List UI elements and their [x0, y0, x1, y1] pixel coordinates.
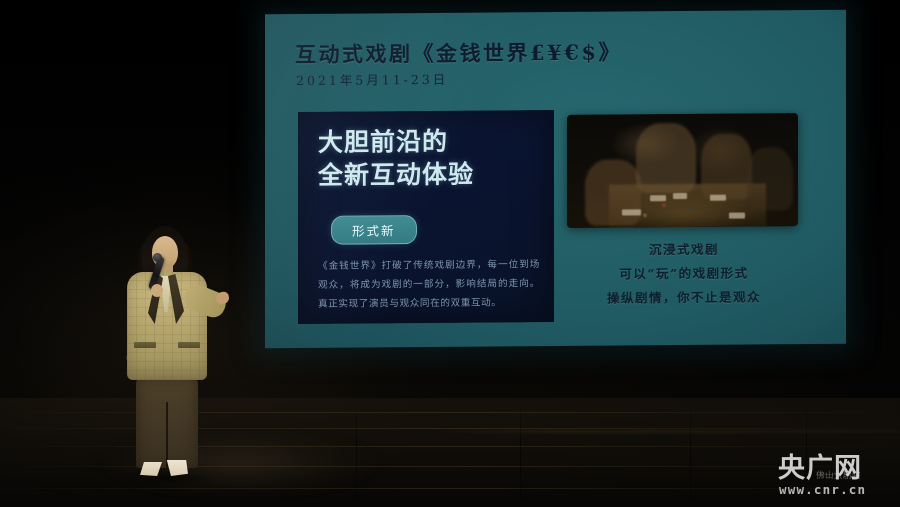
presenter-hand-right [151, 284, 163, 297]
projection-screen: 互动式戏剧《金钱世界£¥€$》 2021年5月11-23日 大胆前沿的 全新互动… [265, 10, 846, 349]
slide-right-line3: 操纵剧情，你不止是观众 [555, 286, 813, 307]
stage-photo: 互动式戏剧《金钱世界£¥€$》 2021年5月11-23日 大胆前沿的 全新互动… [0, 0, 900, 507]
watermark-url: www.cnr.cn [779, 484, 866, 497]
presenter-pocket-left [134, 342, 156, 348]
slide-headline: 大胆前沿的 全新互动体验 [318, 124, 538, 192]
slide-right-line1: 沉浸式戏剧 [555, 238, 813, 259]
slide-headline-line1: 大胆前沿的 [318, 124, 538, 159]
slide-headline-line2: 全新互动体验 [318, 157, 538, 192]
slide-title: 互动式戏剧《金钱世界£¥€$》 [295, 36, 622, 69]
floor-edge-highlight [430, 430, 900, 433]
slide-date: 2021年5月11-23日 [296, 69, 448, 89]
presenter-leg-split [166, 402, 168, 468]
photo-scene [567, 113, 798, 228]
presenter [108, 226, 228, 488]
slide-right-line2: 可以“玩”的戏剧形式 [555, 262, 813, 283]
slide-photo [567, 113, 798, 228]
presenter-pocket-right [178, 342, 200, 348]
slide-feature-card: 大胆前沿的 全新互动体验 形式新 《金钱世界》打破了传统戏剧边界，每一位到场观众… [298, 110, 554, 324]
slide-badge: 形式新 [331, 215, 417, 245]
watermark-sub-logo: 佛山大剧院 [816, 469, 861, 481]
watermark: 央广网 佛山大剧院 www.cnr.cn [778, 455, 890, 499]
slide-body-text: 《金钱世界》打破了传统戏剧边界，每一位到场观众，将成为戏剧的一部分，影响结局的走… [318, 255, 540, 314]
